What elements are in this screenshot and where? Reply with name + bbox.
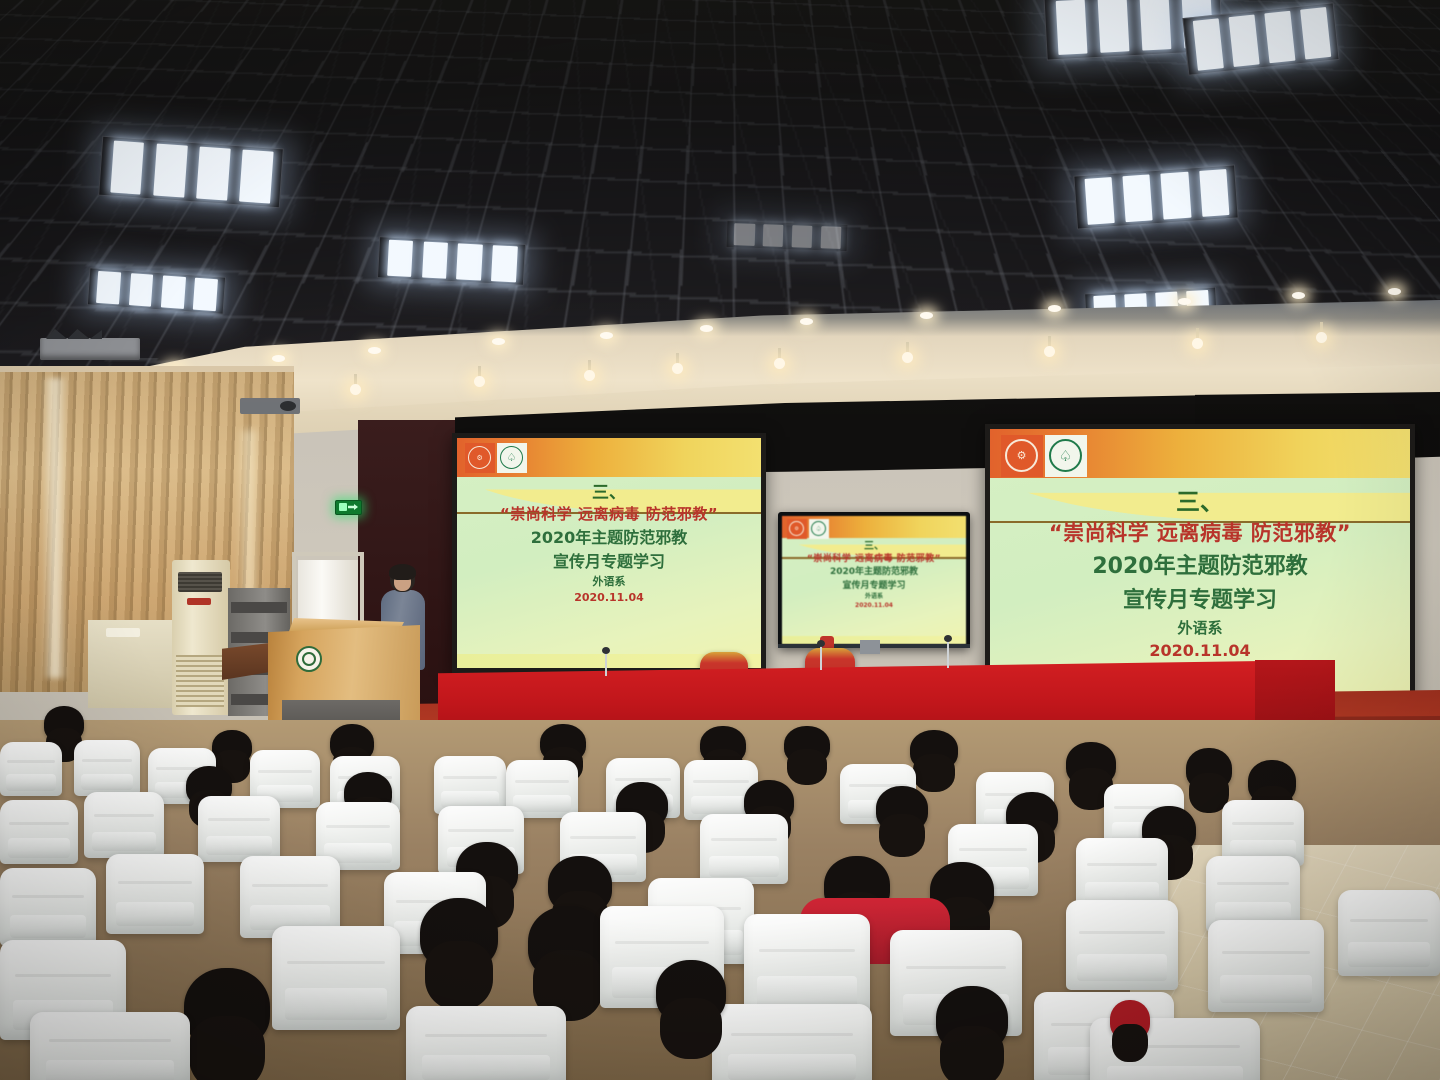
ceiling-light-panel [1073,164,1238,229]
slide-line-department: 外语系 [1177,620,1222,638]
flat-panel-display-center: ⚙ ♤ 三、 “崇尚科学 远离病毒 防范邪教” 2020年主题防范邪教 宣传月专… [778,512,970,648]
track-spot-light [1044,346,1055,357]
university-seal-red-icon: ⚙ [787,519,807,539]
ceiling-projector-secondary [240,398,300,414]
audience-seat [0,742,62,796]
downlight [800,318,813,325]
track-spot-light [1316,332,1327,343]
downlight [1292,292,1305,299]
slide-line-sub1: 2020年主题防范邪教 [1092,554,1307,580]
downlight [272,355,285,362]
slide-line-number: 三、 [864,541,884,553]
audience-seat [74,740,140,796]
audience-head [656,960,726,1024]
slide-line-sub2: 宣传月专题学习 [1123,588,1277,614]
audience-seat [744,914,870,1018]
ceiling-projector [40,338,140,360]
audience-head [528,906,608,980]
downlight [1388,288,1401,295]
audience-head [212,730,252,764]
track-spot-light [584,370,595,381]
school-crest-icon [296,646,322,672]
ceiling-light-panel [377,236,526,286]
presenter-hair [389,564,416,580]
audience-seat [198,796,280,862]
audience-seat [712,1004,872,1080]
display-mount [860,640,880,654]
audience-seat [406,1006,566,1080]
slide-line-date: 2020.11.04 [574,592,644,605]
slide-line-number: 三、 [1176,488,1224,516]
audience-head [1066,742,1116,786]
audience-head [1248,760,1296,804]
audience-head [548,856,612,914]
university-seal-red-icon: ⚙ [1001,435,1043,477]
wall-cabinet [88,620,174,708]
air-conditioner-unit [172,560,230,715]
slide-line-sub2: 宣传月专题学习 [553,553,665,572]
slide-line-quote: “崇尚科学 远离病毒 防范邪教” [807,554,941,565]
slide-line-sub1: 2020年主题防范邪教 [531,529,688,548]
dove-seal-green-icon: ♤ [809,519,829,539]
audience-seat [106,854,204,934]
slide-content-left: ⚙ ♤ 三、 “崇尚科学 远离病毒 防范邪教” 2020年主题防范邪教 宣传月专… [457,438,761,668]
slide-line-department: 外语系 [593,576,626,589]
microphone [820,645,822,670]
audience-seat [1066,900,1178,990]
downlight [1178,298,1191,305]
audience-seat [700,814,788,884]
slide-line-quote: “崇尚科学 远离病毒 防范邪教” [500,506,718,524]
window-light-gap [42,378,68,678]
track-spot-light [350,384,361,395]
audience-head [876,786,928,832]
audience-head [420,898,498,970]
audience-head [784,726,830,764]
exit-sign-icon [335,500,362,515]
slide-line-sub1: 2020年主题防范邪教 [830,567,918,578]
slide-line-quote: “崇尚科学 远离病毒 防范邪教” [1049,521,1351,546]
slide-line-number: 三、 [592,483,626,503]
track-spot-light [474,376,485,387]
audience-head [1110,1000,1150,1040]
slide-line-sub2: 宣传月专题学习 [842,581,905,592]
audience-seat [272,926,400,1030]
audience-head [540,724,586,762]
audience-seat [0,800,78,864]
slide-emblems: ⚙ ♤ [1001,435,1087,477]
slide-line-date: 2020.11.04 [1149,642,1250,661]
audience-head [936,986,1008,1052]
slide-content-center: ⚙ ♤ 三、 “崇尚科学 远离病毒 防范邪教” 2020年主题防范邪教 宣传月专… [782,516,966,644]
ceiling-light-panel [98,136,284,209]
dove-seal-green-icon: ♤ [497,443,527,473]
microphone [605,652,607,676]
ac-badge [187,598,211,605]
audience-head [910,730,958,770]
university-seal-red-icon: ⚙ [465,443,495,473]
track-spot-light [774,358,785,369]
ac-grille-icon [178,572,222,592]
microphone [947,640,949,668]
slide-emblems: ⚙ ♤ [465,443,527,473]
track-spot-light [672,363,683,374]
auditorium-photo: ⚙ ♤ 三、 “崇尚科学 远离病毒 防范邪教” 2020年主题防范邪教 宣传月专… [0,0,1440,1080]
audience-head [1186,748,1232,790]
ceiling-light-panel [726,220,849,252]
downlight [600,332,613,339]
ac-vent-icon [176,655,224,707]
downlight [368,347,381,354]
track-spot-light [902,352,913,363]
slide-line-department: 外语系 [865,593,883,600]
slide-line-date: 2020.11.04 [855,602,893,609]
audience-seat [84,792,164,858]
downlight [492,338,505,345]
downlight [1048,305,1061,312]
downlight [920,312,933,319]
audience-seat [1338,890,1440,976]
track-spot-light [1192,338,1203,349]
audience-seat [30,1012,190,1080]
dove-seal-green-icon: ♤ [1045,435,1087,477]
audience-seat [1208,920,1324,1012]
audience-head [700,726,746,764]
audience-seat [0,868,96,946]
audience-head [44,706,84,742]
slide-emblems: ⚙ ♤ [787,519,829,539]
audience-head [184,968,270,1048]
projection-screen-left: ⚙ ♤ 三、 “崇尚科学 远离病毒 防范邪教” 2020年主题防范邪教 宣传月专… [452,433,766,673]
downlight [700,325,713,332]
